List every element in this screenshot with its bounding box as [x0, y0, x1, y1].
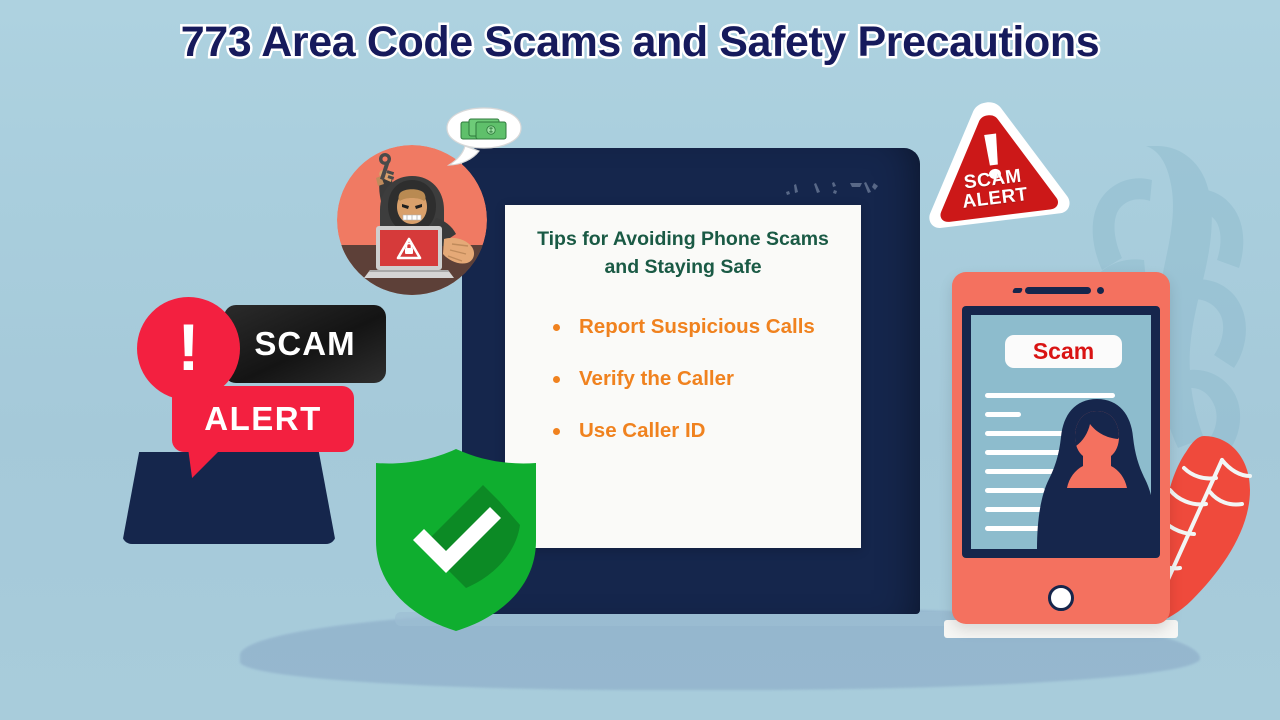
- monitor-screen: Tips for Avoiding Phone Scams and Stayin…: [505, 205, 861, 548]
- money-speech-bubble-icon: [443, 106, 525, 168]
- smartphone-scam-call: Scam: [952, 272, 1170, 624]
- list-item: Verify the Caller: [553, 367, 861, 391]
- screen-heading-line-2: and Staying Safe: [523, 254, 843, 282]
- phone-screen: Scam: [971, 315, 1151, 549]
- phone-home-button[interactable]: [1048, 585, 1074, 611]
- exclamation-circle-icon: !: [137, 297, 240, 400]
- text-line: [985, 488, 1045, 493]
- tips-list: Report Suspicious Calls Verify the Calle…: [553, 315, 861, 443]
- phone-speaker-icon: [1025, 287, 1091, 294]
- scam-label-chip: SCAM: [224, 305, 386, 383]
- security-shield-icon: [368, 445, 544, 633]
- list-item: Report Suspicious Calls: [553, 315, 861, 339]
- scam-alert-triangle: SCAM ALERT: [908, 96, 1080, 236]
- list-item: Use Caller ID: [553, 419, 861, 443]
- infographic-canvas: 773 Area Code Scams and Safety Precautio…: [0, 0, 1280, 720]
- scam-label: SCAM: [254, 325, 355, 363]
- scam-banner-label: Scam: [1033, 338, 1094, 365]
- screen-heading: Tips for Avoiding Phone Scams and Stayin…: [523, 226, 843, 281]
- caller-avatar: [1037, 389, 1151, 549]
- page-title: 773 Area Code Scams and Safety Precautio…: [0, 18, 1280, 67]
- alert-label: ALERT: [204, 400, 322, 438]
- sparkle-specks-icon: [782, 174, 892, 204]
- screen-heading-line-1: Tips for Avoiding Phone Scams: [523, 226, 843, 254]
- exclamation-mark: !: [178, 314, 200, 380]
- text-line: [985, 412, 1021, 417]
- phone-bezel: Scam: [962, 306, 1160, 558]
- scam-banner: Scam: [1005, 335, 1122, 368]
- scam-alert-badge: SCAM ALERT !: [132, 292, 394, 472]
